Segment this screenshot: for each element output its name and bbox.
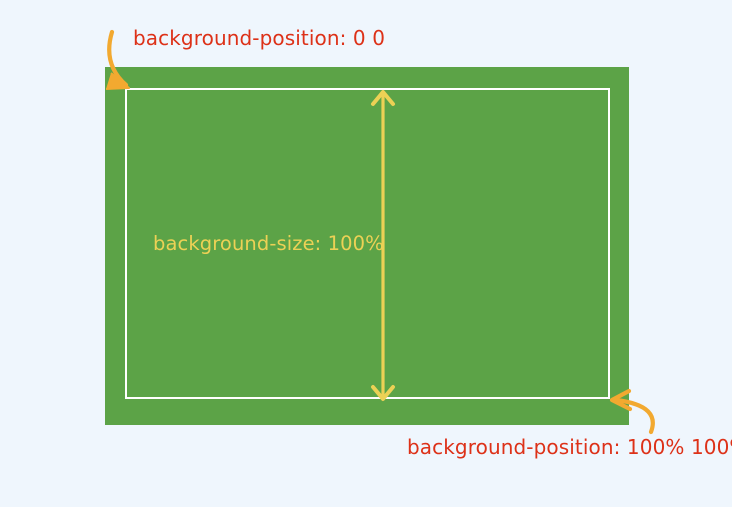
- label-background-position-origin: background-position: 0 0: [133, 26, 385, 50]
- label-background-position-end: background-position: 100% 100%: [407, 435, 732, 459]
- label-background-size: background-size: 100%: [153, 232, 384, 256]
- diagram-canvas: background-position: 0 0 background-posi…: [0, 0, 732, 507]
